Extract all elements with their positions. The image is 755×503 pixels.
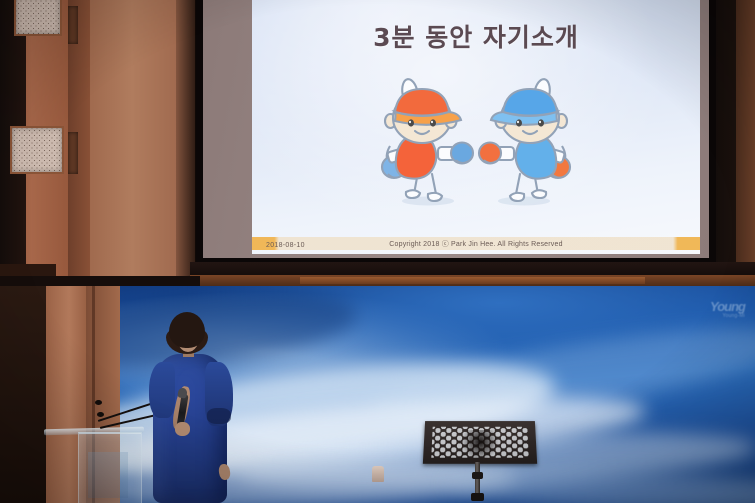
presentation-photo: 3분 동안 자기소개 .ol{fill:none;stroke:#92a2b7;… bbox=[0, 0, 755, 503]
gooseneck-mic-head-2 bbox=[97, 412, 104, 417]
presenter-sleeve-fold bbox=[207, 408, 231, 424]
slide-footer-copyright: Copyright 2018 ⓒ Park Jin Hee. All Right… bbox=[252, 239, 700, 249]
acoustic-panel-upper bbox=[14, 0, 62, 36]
orange-boxer bbox=[382, 78, 473, 201]
wall-shadow-column bbox=[176, 0, 198, 290]
backdrop-logo-mark: Young bbox=[710, 300, 745, 314]
presenter-hair bbox=[169, 312, 205, 348]
floor-object bbox=[372, 466, 384, 482]
music-stand-knob-upper bbox=[472, 472, 483, 479]
under-screen-wood-highlight bbox=[300, 277, 645, 284]
backdrop-logo-subtext: Young-Mi bbox=[710, 314, 745, 320]
presenter bbox=[135, 312, 245, 503]
backdrop-wave-upper bbox=[365, 311, 755, 438]
acoustic-panel-lower bbox=[10, 126, 64, 174]
slide-title: 3분 동안 자기소개 bbox=[252, 18, 700, 54]
presenter-hand bbox=[175, 422, 190, 436]
projected-slide: 3분 동안 자기소개 .ol{fill:none;stroke:#92a2b7;… bbox=[252, 0, 700, 254]
music-stand-knob-lower bbox=[471, 493, 484, 501]
lower-wall-dark-left bbox=[0, 286, 48, 503]
under-screen-dark-band bbox=[190, 262, 755, 276]
wall-vent-upper bbox=[68, 6, 78, 44]
gooseneck-mic-head-1 bbox=[95, 400, 102, 405]
blue-boxer bbox=[479, 78, 570, 201]
backdrop-logo: Young Young-Mi bbox=[710, 300, 745, 320]
music-stand-shadow bbox=[462, 430, 498, 460]
presenter-shoulder-left bbox=[149, 362, 175, 418]
wall-vent-lower bbox=[68, 132, 78, 174]
music-stand-pole bbox=[475, 462, 480, 496]
music-stand bbox=[418, 420, 538, 503]
lectern-inner-shelf bbox=[88, 452, 128, 498]
illustration-two-boxers: .ol{fill:none;stroke:#92a2b7;stroke-widt… bbox=[366, 74, 586, 214]
handheld-microphone-head bbox=[177, 387, 187, 398]
wall-wood-right bbox=[736, 0, 755, 290]
